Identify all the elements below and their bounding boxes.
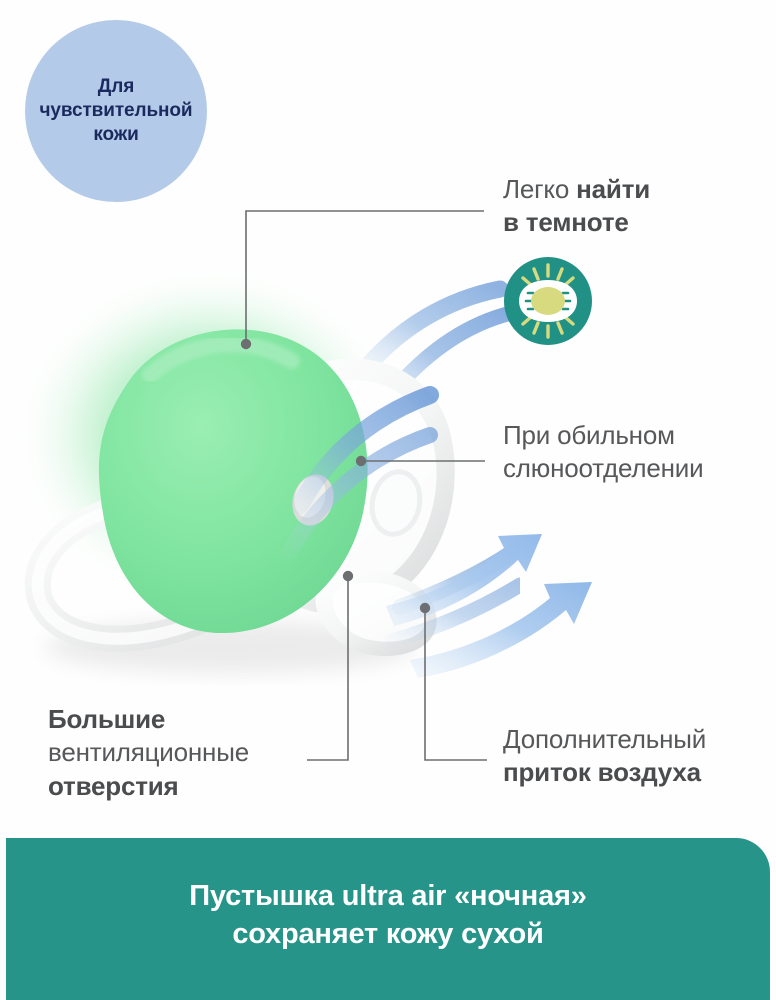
callout-glow-line1-bold: найти	[576, 174, 650, 204]
sensitive-skin-badge: Для чувствительной кожи	[25, 20, 207, 202]
callout-saliva-line2: слюноотделении	[503, 452, 776, 485]
callout-vents-line3-bold: отверстия	[48, 771, 179, 801]
callout-saliva-line1: При обильном	[503, 419, 776, 452]
callout-vents-line2: вентиляционные	[48, 736, 318, 769]
glow-in-the-dark-pacifier-icon	[503, 256, 593, 346]
airflow-arrows	[380, 520, 620, 680]
callout-airflow-line1: Дополнительный	[503, 723, 768, 756]
callout-vents-line1-bold: Большие	[48, 704, 165, 734]
footer-banner-text: Пустышка ultra air «ночная» сохраняет ко…	[189, 878, 586, 959]
callout-glow-line2: в темноте	[503, 206, 768, 239]
callout-vents-line1: Большие	[48, 703, 318, 736]
sensitive-skin-badge-label: Для чувствительной кожи	[29, 75, 202, 147]
callout-glow-line2-bold: в темноте	[503, 207, 629, 237]
callout-glow-in-dark: Легко найти в темноте	[503, 173, 768, 240]
footer-banner: Пустышка ultra air «ночная» сохраняет ко…	[6, 838, 770, 1000]
callout-glow-line1: Легко найти	[503, 173, 768, 206]
callout-vents-line3: отверстия	[48, 770, 318, 803]
callout-airflow-line2-bold: приток воздуха	[503, 757, 701, 787]
infographic-page: Для чувствительной кожи	[0, 0, 776, 1000]
callout-airflow-line2: приток воздуха	[503, 756, 768, 789]
callout-glow-line1-regular: Легко	[503, 174, 576, 204]
callout-large-vents: Большие вентиляционные отверстия	[48, 703, 318, 803]
callout-extra-airflow: Дополнительный приток воздуха	[503, 723, 768, 790]
callout-heavy-saliva: При обильном слюноотделении	[503, 419, 776, 486]
